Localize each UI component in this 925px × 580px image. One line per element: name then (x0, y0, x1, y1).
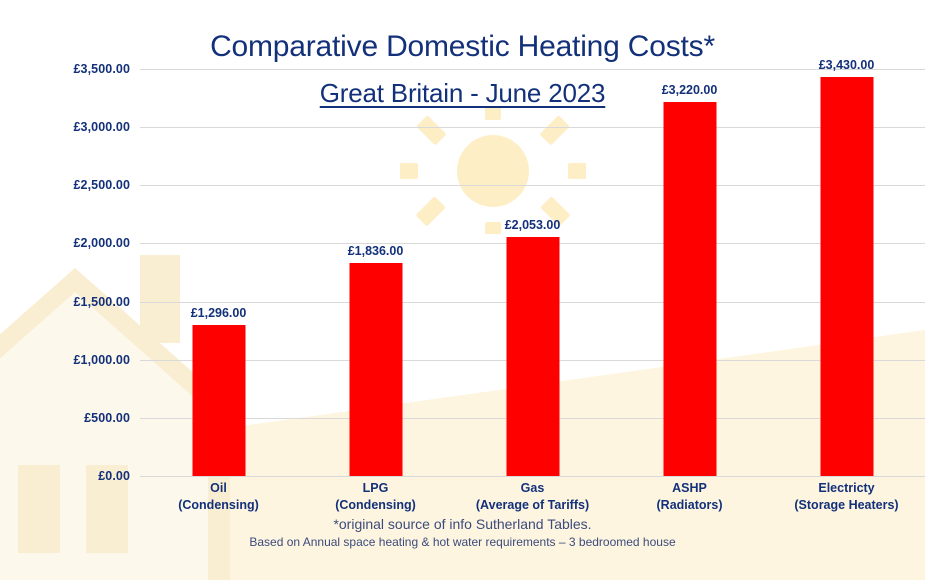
bar[interactable] (506, 237, 559, 476)
bar-slot: £1,836.00 (297, 69, 454, 476)
footnote-source: *original source of info Sutherland Tabl… (0, 516, 925, 532)
bar-value-label: £1,836.00 (348, 244, 404, 258)
x-axis-category-line: (Storage Heaters) (794, 497, 898, 514)
y-axis-tick-label: £2,000.00 (10, 236, 130, 250)
bar-value-label: £1,296.00 (191, 306, 247, 320)
y-axis-tick-label: £3,000.00 (10, 120, 130, 134)
x-axis-category-line: Electricty (794, 480, 898, 497)
y-axis-tick-label: £2,500.00 (10, 178, 130, 192)
x-axis-category-line: (Radiators) (657, 497, 723, 514)
x-axis-category-label: Gas(Average of Tariffs) (476, 480, 589, 514)
bar-slot: £2,053.00 (454, 69, 611, 476)
x-axis-category-line: ASHP (657, 480, 723, 497)
x-axis-category-label: Oil(Condensing) (178, 480, 259, 514)
bar-series: £1,296.00£1,836.00£2,053.00£3,220.00£3,4… (140, 69, 925, 476)
x-axis-category-line: Gas (476, 480, 589, 497)
bar-slot: £3,430.00 (768, 69, 925, 476)
y-axis-tick-label: £500.00 (10, 411, 130, 425)
bar[interactable] (820, 77, 873, 476)
x-axis-category-label: ASHP(Radiators) (657, 480, 723, 514)
x-axis-category-label: Electricty(Storage Heaters) (794, 480, 898, 514)
bar[interactable] (663, 102, 716, 476)
y-axis-tick-label: £0.00 (10, 469, 130, 483)
chart-subtitle-text: Great Britain - June 2023 (320, 78, 606, 108)
footnote-basis: Based on Annual space heating & hot wate… (0, 535, 925, 549)
x-axis-category-line: LPG (335, 480, 416, 497)
bar[interactable] (192, 325, 245, 476)
x-axis-category-line: Oil (178, 480, 259, 497)
x-axis-category-label: LPG(Condensing) (335, 480, 416, 514)
y-axis-tick-label: £1,000.00 (10, 353, 130, 367)
bar-slot: £1,296.00 (140, 69, 297, 476)
bar[interactable] (349, 263, 402, 477)
chart-title: Comparative Domestic Heating Costs* (0, 30, 925, 64)
bar-slot: £3,220.00 (611, 69, 768, 476)
x-axis-category-line: (Condensing) (178, 497, 259, 514)
x-axis-category-line: (Average of Tariffs) (476, 497, 589, 514)
gridline (140, 476, 925, 477)
x-axis-category-line: (Condensing) (335, 497, 416, 514)
chart-subtitle: Great Britain - June 2023 (0, 78, 925, 109)
bar-value-label: £2,053.00 (505, 218, 561, 232)
y-axis-tick-label: £1,500.00 (10, 295, 130, 309)
slide-canvas: £0.00£500.00£1,000.00£1,500.00£2,000.00£… (0, 0, 925, 580)
y-axis-tick-label: £3,500.00 (10, 62, 130, 76)
